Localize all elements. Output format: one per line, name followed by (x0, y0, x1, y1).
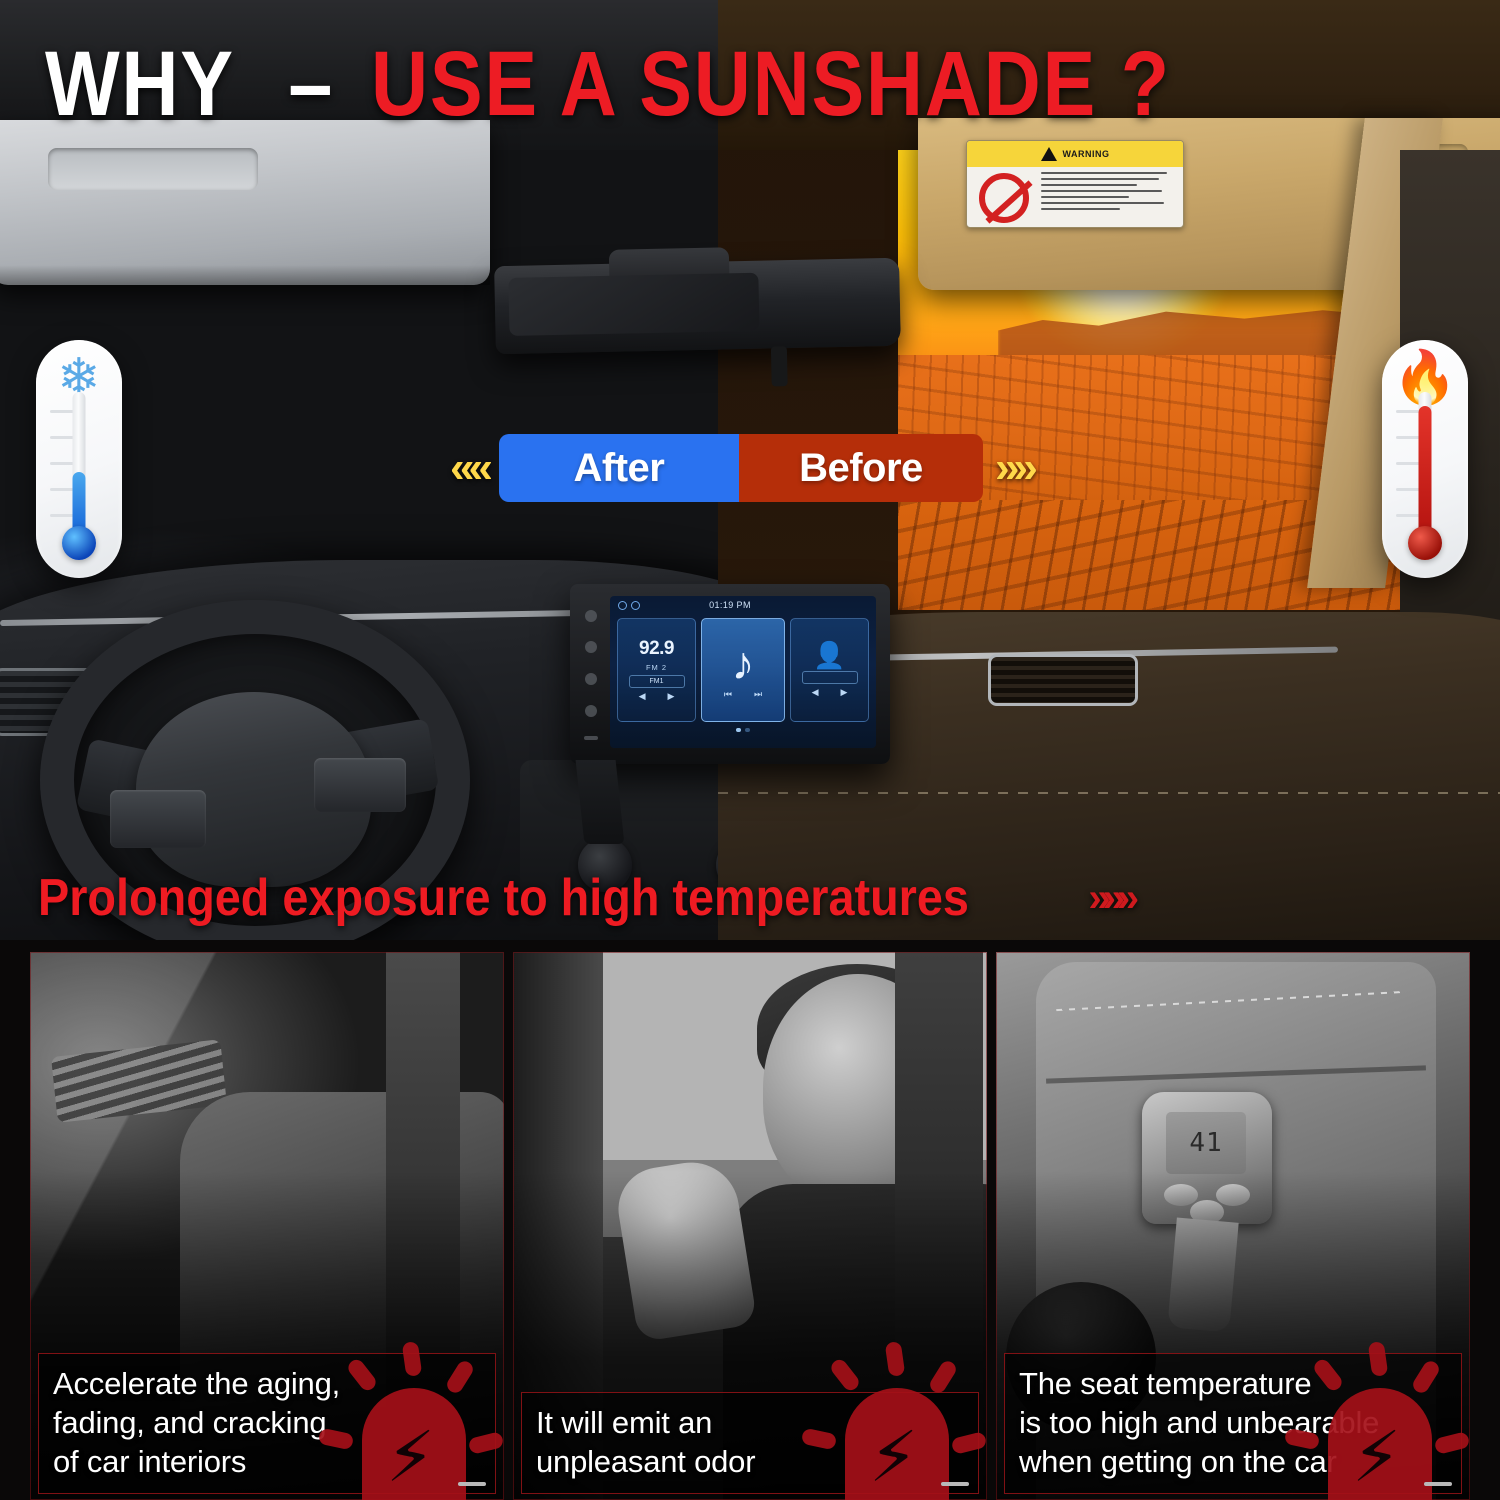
apps-key-icon[interactable] (585, 705, 597, 717)
radio-frequency: 92.9 (639, 638, 674, 660)
radio-seek-controls[interactable]: ◀ ▶ (639, 691, 675, 702)
page-indicator[interactable] (610, 726, 876, 732)
lightning-bolt-icon: ⚡ (1352, 1422, 1401, 1492)
radio-band: FM 2 (646, 663, 667, 672)
mirror-glass (508, 273, 759, 336)
card-unpleasant-odor: ⚡ It will emit an unpleasant odor (513, 952, 987, 1500)
title-dash: – (266, 38, 356, 130)
warning-heading: WARNING (1063, 149, 1110, 159)
phone-tile[interactable]: 👤 ◀ ▶ (790, 618, 869, 722)
thermometer-fill-hot (1419, 406, 1432, 534)
infotainment-head-unit[interactable]: 01:19 PM 92.9 FM 2 FM1 ◀ ▶ ♪ (570, 584, 890, 764)
lightning-bolt-icon: ⚡ (386, 1422, 435, 1492)
title-word-why: WHY (45, 38, 235, 130)
subtitle-banner: Prolonged exposure to high temperatures … (38, 872, 1131, 924)
page-dot[interactable] (745, 728, 750, 732)
caption-dash-marker (1424, 1482, 1452, 1486)
media-tile[interactable]: ♪ ⏮ ⏭ (701, 618, 785, 722)
contact-name-field[interactable] (802, 671, 858, 684)
page-title: WHY – USE A SUNSHADE ? (45, 38, 1301, 130)
card-aging-fading-cracking: ⚡ Accelerate the aging, fading, and crac… (30, 952, 504, 1500)
power-key-icon[interactable] (585, 610, 597, 622)
caption-dash-marker (458, 1482, 486, 1486)
warning-label-header: WARNING (967, 141, 1183, 167)
prohibition-circle-icon (979, 173, 1029, 223)
contact-next-icon[interactable]: ▶ (841, 687, 848, 698)
air-vent-right-icon (988, 654, 1138, 706)
card-seat-temperature: 41 ⚡ The seat temperature (996, 952, 1470, 1500)
bluetooth-icon (618, 601, 627, 610)
radio-preset[interactable]: FM1 (629, 675, 685, 688)
head-unit-statusbar: 01:19 PM (610, 596, 876, 614)
contact-person-icon: 👤 (813, 642, 845, 668)
visor-slot (48, 148, 258, 190)
media-transport-controls[interactable]: ⏮ ⏭ (724, 689, 762, 700)
thermometer-bulb-hot (1408, 526, 1442, 560)
seek-prev-icon[interactable]: ◀ (639, 691, 646, 702)
head-unit-screen[interactable]: 01:19 PM 92.9 FM 2 FM1 ◀ ▶ ♪ (610, 596, 876, 748)
music-note-icon: ♪ (732, 640, 755, 686)
sun-visor-cool (0, 120, 490, 285)
steering-button-cluster-left[interactable] (110, 790, 206, 848)
consequence-cards: ⚡ Accelerate the aging, fading, and crac… (0, 952, 1500, 1500)
thermometer-cool: ❄ (36, 340, 122, 578)
poster-stage: WARNING (0, 0, 1500, 1500)
home-key-icon[interactable] (585, 641, 597, 653)
warning-triangle-icon (1041, 147, 1057, 161)
contact-nav-controls[interactable]: ◀ ▶ (812, 687, 848, 698)
prev-track-icon[interactable]: ⏮ (724, 689, 732, 700)
mirror-stem (771, 346, 788, 386)
head-unit-tiles: 92.9 FM 2 FM1 ◀ ▶ ♪ ⏮ ⏭ (610, 614, 876, 726)
chevron-right-icon: »» (995, 446, 1032, 490)
before-after-toggle[interactable]: «« After Before »» (450, 434, 1032, 502)
next-track-icon[interactable]: ⏭ (754, 689, 762, 700)
signal-icon (631, 601, 640, 610)
warning-text-lines (1041, 167, 1183, 228)
subtitle-text: Prolonged exposure to high temperatures (38, 872, 969, 924)
dash-stitching (718, 792, 1500, 794)
airbag-warning-label: WARNING (966, 140, 1184, 228)
before-after-hero: WARNING (0, 0, 1500, 940)
before-badge[interactable]: Before (739, 434, 983, 502)
contact-prev-icon[interactable]: ◀ (812, 687, 819, 698)
no-rear-facing-seat-icon (967, 167, 1041, 228)
title-word-sunshade: USE A SUNSHADE ? (371, 38, 1171, 130)
radio-tile[interactable]: 92.9 FM 2 FM1 ◀ ▶ (617, 618, 696, 722)
volume-key-icon[interactable] (585, 673, 597, 685)
chevron-right-triple-icon: »»» (1088, 876, 1131, 921)
head-unit-side-keys[interactable] (580, 600, 602, 750)
menu-key-icon[interactable] (584, 736, 598, 740)
heat-hazard-watermark-icon: ⚡ (320, 1336, 504, 1500)
after-badge[interactable]: After (499, 434, 739, 502)
page-dot-active[interactable] (736, 728, 741, 732)
head-unit-clock: 01:19 PM (709, 600, 751, 610)
steering-button-cluster-right[interactable] (314, 758, 406, 812)
lightning-bolt-icon: ⚡ (869, 1422, 918, 1492)
seek-next-icon[interactable]: ▶ (668, 691, 675, 702)
heat-hazard-watermark-icon: ⚡ (803, 1336, 987, 1500)
thermometer-fill-cool (73, 472, 86, 534)
statusbar-left (618, 601, 640, 610)
heat-hazard-watermark-icon: ⚡ (1286, 1336, 1470, 1500)
thermometer-bulb-cool (62, 526, 96, 560)
caption-dash-marker (941, 1482, 969, 1486)
chevron-left-icon: «« (450, 446, 487, 490)
rear-view-mirror (494, 258, 901, 354)
warning-label-body (967, 167, 1183, 228)
thermometer-hot: 🔥 (1382, 340, 1468, 578)
visor-edge (0, 265, 490, 285)
